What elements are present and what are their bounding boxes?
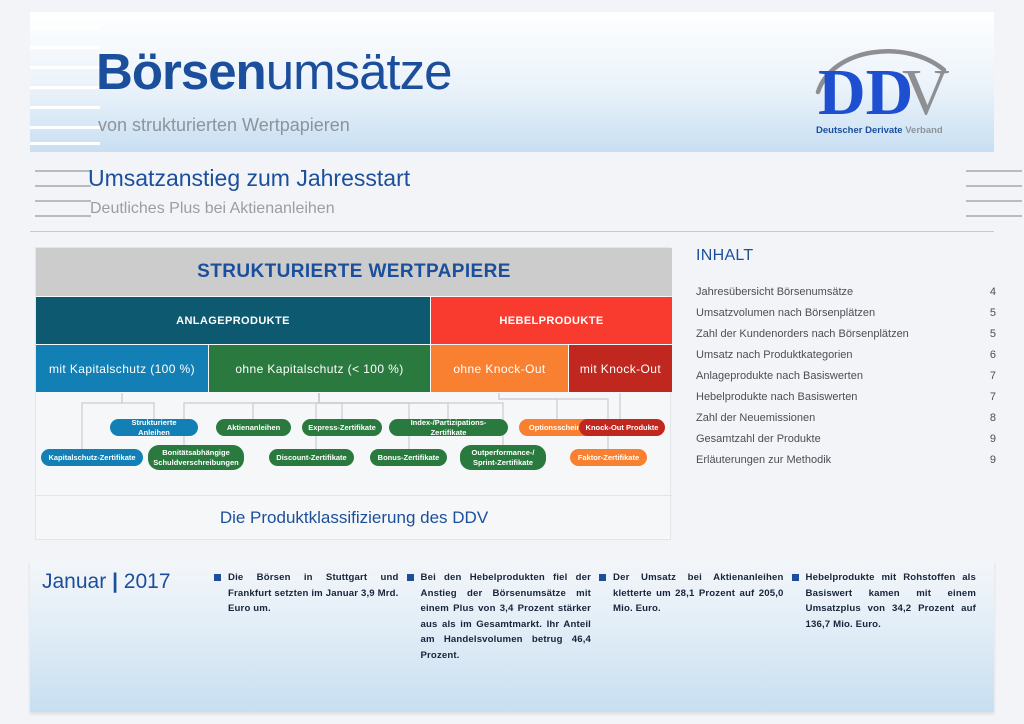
toc-label: Jahresübersicht Börsenumsätze bbox=[696, 286, 853, 298]
product-pill-bonitaetsabhaengige[interactable]: Bonitätsabhängige Schuldverschreibungen bbox=[148, 445, 244, 470]
diagram-caption-text: Die Produktklassifizierung des DDV bbox=[220, 508, 488, 528]
toc-label: Umsatz nach Produktkategorien bbox=[696, 349, 853, 361]
toc-page: 7 bbox=[990, 391, 996, 403]
diagram-hebelprodukte-block: HEBELPRODUKTE bbox=[431, 297, 672, 344]
square-bullet-icon bbox=[407, 574, 414, 581]
ddv-tagline-light: Verband bbox=[905, 125, 943, 136]
product-pill-knock-out-produkte[interactable]: Knock-Out Produkte bbox=[579, 419, 665, 436]
period-year: 2017 bbox=[124, 570, 171, 593]
ddv-logo-mark: DD V bbox=[810, 36, 962, 126]
diagram-top-bar: STRUKTURIERTE WERTPAPIERE bbox=[36, 248, 672, 296]
toc-page: 5 bbox=[990, 328, 996, 340]
svg-text:V: V bbox=[902, 56, 950, 126]
header-stripe-decoration bbox=[30, 12, 100, 152]
diagram-ohne-knockout-label: ohne Knock-Out bbox=[453, 362, 545, 376]
diagram-ohne-knockout-block: ohne Knock-Out bbox=[431, 345, 568, 392]
toc-item-jahresuebersicht[interactable]: Jahresübersicht Börsenumsätze 4 bbox=[696, 281, 996, 302]
period-label: Januar | 2017 bbox=[42, 570, 171, 594]
summary-panel: Januar | 2017 Die Börsen in Stuttgart un… bbox=[30, 560, 994, 712]
section-subheading: Deutliches Plus bei Aktienanleihen bbox=[90, 200, 335, 218]
diagram-top-label: STRUKTURIERTE WERTPAPIERE bbox=[197, 261, 511, 283]
header-divider bbox=[30, 231, 994, 232]
toc-title: INHALT bbox=[696, 247, 996, 265]
toc-item-neuemissionen[interactable]: Zahl der Neuemissionen 8 bbox=[696, 407, 996, 428]
diagram-ohne-kapitalschutz-label: ohne Kapitalschutz (< 100 %) bbox=[235, 362, 403, 376]
product-pill-strukturierte-anleihen[interactable]: Strukturierte Anleihen bbox=[110, 419, 198, 436]
section-header: Umsatzanstieg zum Jahresstart Deutliches… bbox=[30, 158, 994, 236]
toc-page: 6 bbox=[990, 349, 996, 361]
toc-page: 7 bbox=[990, 370, 996, 382]
summary-bullet-columns: Die Börsen in Stuttgart und Frankfurt se… bbox=[214, 570, 984, 663]
diagram-ohne-kapitalschutz-block: ohne Kapitalschutz (< 100 %) bbox=[209, 345, 430, 392]
toc-item-hebelprodukte-basiswerte[interactable]: Hebelprodukte nach Basiswerten 7 bbox=[696, 386, 996, 407]
diagram-mit-knockout-block: mit Knock-Out bbox=[569, 345, 672, 392]
summary-bullet-2: Bei den Hebelprodukten fiel der Anstieg … bbox=[407, 570, 600, 663]
toc-item-erlaeuterungen[interactable]: Erläuterungen zur Methodik 9 bbox=[696, 449, 996, 470]
toc-page: 4 bbox=[990, 286, 996, 298]
product-pill-kapitalschutz-zertifikate[interactable]: Kapitalschutz-Zertifikate bbox=[41, 449, 143, 466]
toc-label: Umsatzvolumen nach Börsenplätzen bbox=[696, 307, 875, 319]
diagram-anlageprodukte-block: ANLAGEPRODUKTE bbox=[36, 297, 430, 344]
summary-bullet-text: Der Umsatz bei Aktienanleihen kletterte … bbox=[613, 570, 784, 663]
period-separator: | bbox=[112, 570, 118, 593]
product-pill-faktor-zertifikate[interactable]: Faktor-Zertifikate bbox=[570, 449, 647, 466]
summary-bullet-3: Der Umsatz bei Aktienanleihen kletterte … bbox=[599, 570, 792, 663]
page-title: Börsenumsätze bbox=[96, 42, 451, 101]
section-heading: Umsatzanstieg zum Jahresstart bbox=[88, 165, 410, 192]
toc-item-anlageprodukte-basiswerte[interactable]: Anlageprodukte nach Basiswerten 7 bbox=[696, 365, 996, 386]
toc-item-umsatzvolumen[interactable]: Umsatzvolumen nach Börsenplätzen 5 bbox=[696, 302, 996, 323]
square-bullet-icon bbox=[599, 574, 606, 581]
product-pill-aktienanleihen[interactable]: Aktienanleihen bbox=[216, 419, 291, 436]
diagram-mit-kapitalschutz-block: mit Kapitalschutz (100 %) bbox=[36, 345, 208, 392]
svg-text:DD: DD bbox=[818, 56, 913, 126]
summary-bullet-text: Die Börsen in Stuttgart und Frankfurt se… bbox=[228, 570, 399, 663]
toc-item-gesamtzahl-produkte[interactable]: Gesamtzahl der Produkte 9 bbox=[696, 428, 996, 449]
product-pill-bonus-zertifikate[interactable]: Bonus-Zertifikate bbox=[370, 449, 447, 466]
square-bullet-icon bbox=[792, 574, 799, 581]
summary-bullet-text: Bei den Hebelprodukten fiel der Anstieg … bbox=[421, 570, 592, 663]
ddv-tagline: Deutscher Derivate Verband bbox=[816, 125, 943, 136]
header-band: Börsenumsätze von strukturierten Wertpap… bbox=[30, 12, 994, 152]
toc-label: Gesamtzahl der Produkte bbox=[696, 433, 821, 445]
diagram-hebelprodukte-label: HEBELPRODUKTE bbox=[499, 315, 603, 327]
period-month: Januar bbox=[42, 570, 106, 593]
toc-item-produktkategorien[interactable]: Umsatz nach Produktkategorien 6 bbox=[696, 344, 996, 365]
toc-label: Erläuterungen zur Methodik bbox=[696, 454, 831, 466]
ddv-tagline-bold: Deutscher Derivate bbox=[816, 125, 903, 136]
product-pill-outperformance-sprint[interactable]: Outperformance-/ Sprint-Zertifikate bbox=[460, 445, 546, 470]
summary-bullet-4: Hebelprodukte mit Rohstoffen als Basiswe… bbox=[792, 570, 985, 663]
page-title-bold: Börsen bbox=[96, 43, 266, 100]
diagram-mit-kapitalschutz-label: mit Kapitalschutz (100 %) bbox=[49, 362, 195, 376]
summary-bullet-1: Die Börsen in Stuttgart und Frankfurt se… bbox=[214, 570, 407, 663]
toc-page: 8 bbox=[990, 412, 996, 424]
summary-bullet-text: Hebelprodukte mit Rohstoffen als Basiswe… bbox=[806, 570, 977, 663]
diagram-caption: Die Produktklassifizierung des DDV bbox=[36, 495, 672, 539]
toc-page: 9 bbox=[990, 433, 996, 445]
page-title-light: umsätze bbox=[266, 43, 452, 100]
square-bullet-icon bbox=[214, 574, 221, 581]
toc-item-kundenorders[interactable]: Zahl der Kundenorders nach Börsenplätzen… bbox=[696, 323, 996, 344]
product-classification-diagram: STRUKTURIERTE WERTPAPIERE ANLAGEPRODUKTE… bbox=[35, 247, 671, 540]
table-of-contents: INHALT Jahresübersicht Börsenumsätze 4 U… bbox=[696, 247, 996, 470]
toc-page: 5 bbox=[990, 307, 996, 319]
page-root: Börsenumsätze von strukturierten Wertpap… bbox=[0, 0, 1024, 724]
toc-label: Zahl der Kundenorders nach Börsenplätzen bbox=[696, 328, 909, 340]
ddv-logo: DD V Deutscher Derivate Verband bbox=[810, 36, 962, 140]
page-subtitle: von strukturierten Wertpapieren bbox=[98, 115, 350, 136]
diagram-mit-knockout-label: mit Knock-Out bbox=[580, 362, 661, 376]
toc-label: Anlageprodukte nach Basiswerten bbox=[696, 370, 863, 382]
toc-label: Zahl der Neuemissionen bbox=[696, 412, 815, 424]
toc-page: 9 bbox=[990, 454, 996, 466]
toc-label: Hebelprodukte nach Basiswerten bbox=[696, 391, 857, 403]
diagram-anlageprodukte-label: ANLAGEPRODUKTE bbox=[176, 315, 290, 327]
product-pill-discount-zertifikate[interactable]: Discount-Zertifikate bbox=[269, 449, 354, 466]
product-pill-index-partizipations[interactable]: Index-/Partizipations-Zertifikate bbox=[389, 419, 508, 436]
product-pill-express-zertifikate[interactable]: Express-Zertifikate bbox=[302, 419, 382, 436]
